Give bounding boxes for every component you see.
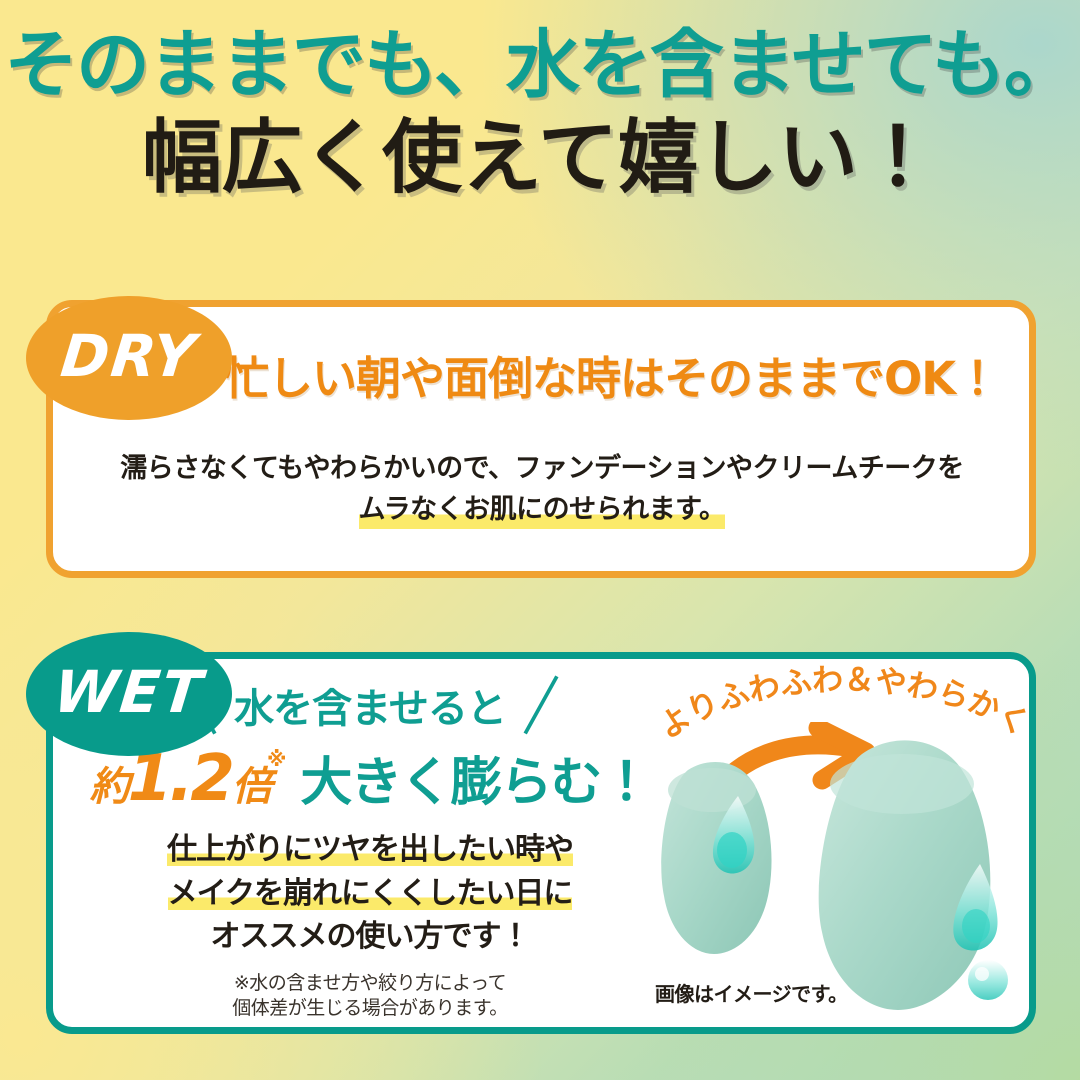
dry-body-text: 濡らさなくてもやわらかいので、ファンデーションやクリームチークを ムラなくお肌に…	[70, 448, 1014, 530]
headline-line-1: そのままでも、水を含ませても。	[0, 28, 1080, 102]
dry-body-line-2: ムラなくお肌にのせられます。	[359, 489, 726, 530]
wet-body-line-2: メイクを崩れにくくしたい日に	[168, 876, 573, 911]
yaku-label: 約	[90, 754, 128, 812]
slash-right-icon: ／	[511, 676, 573, 738]
wet-body-line-1: 仕上がりにツヤを出したい時や	[167, 832, 573, 867]
headline-block: そのままでも、水を含ませても。 幅広く使えて嬉しい！	[0, 28, 1080, 198]
sponge-dry	[661, 762, 771, 954]
sponge-wet	[819, 740, 1008, 1010]
infographic-canvas: そのままでも、水を含ませても。 幅広く使えて嬉しい！ 忙しい朝や面倒な時はそのま…	[0, 0, 1080, 1080]
wet-badge-label: WET	[51, 658, 207, 726]
expansion-headline: 約 1.2 倍 ※ 大きく膨らむ！	[100, 740, 640, 816]
wet-footnote-line-1: ※水の含ませ方や絞り方によって	[234, 972, 506, 994]
wet-badge: WET	[26, 632, 232, 756]
bai-label: 倍	[232, 754, 271, 812]
wet-body-text: 仕上がりにツヤを出したい時や メイクを崩れにくくしたい日に オススメの使い方です…	[100, 828, 640, 959]
mizu-label: 水を含ませると	[234, 676, 506, 734]
headline-line-2: 幅広く使えて嬉しい！	[0, 118, 1080, 198]
dry-badge-label: DRY	[58, 322, 201, 390]
wet-body-line-3: オススメの使い方です！	[211, 919, 530, 954]
dry-badge: DRY	[26, 296, 232, 420]
sponge-comparison-image	[640, 718, 1040, 1018]
wet-footnote: ※水の含ませ方や絞り方によって 個体差が生じる場合があります。	[100, 971, 640, 1022]
image-caption: 画像はイメージです。	[655, 978, 848, 1007]
expand-label: 大きく膨らむ！	[300, 740, 650, 815]
asterisk-marker: ※	[267, 747, 286, 771]
wet-footnote-line-2: 個体差が生じる場合があります。	[232, 997, 508, 1019]
dry-heading: 忙しい朝や面倒な時はそのままでOK！	[224, 342, 999, 407]
dry-body-line-1: 濡らさなくてもやわらかいので、ファンデーションやクリームチークを	[120, 453, 963, 484]
